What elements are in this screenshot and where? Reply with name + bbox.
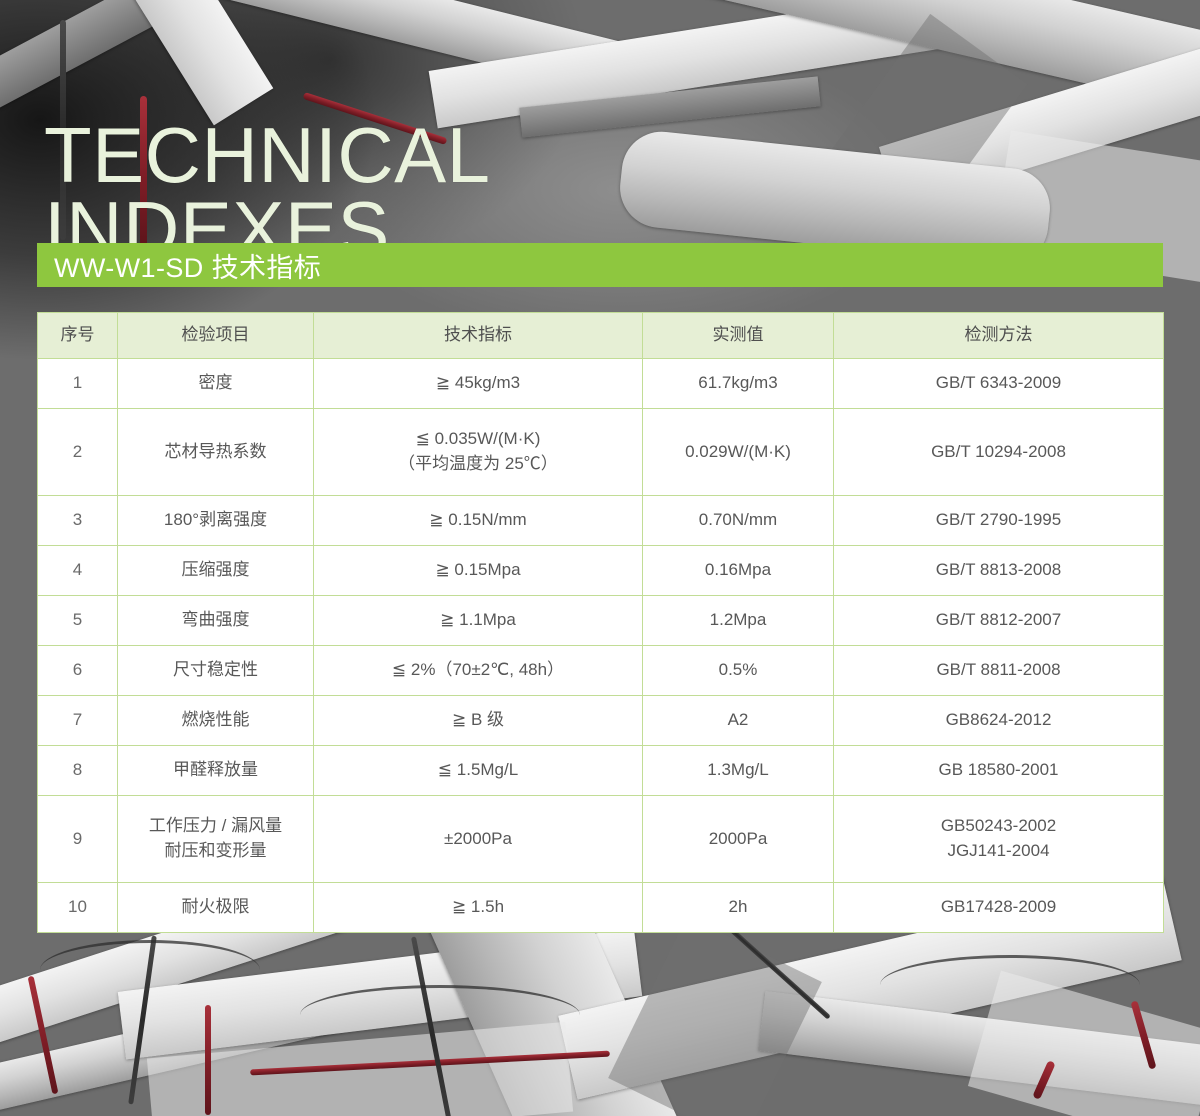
cell-test-method-line: GB50243-2002	[840, 814, 1157, 839]
cell-inspection-item: 工作压力 / 漏风量耐压和变形量	[118, 796, 314, 883]
cell-no-line: 2	[44, 440, 111, 465]
cell-measured-value: 61.7kg/m3	[643, 359, 834, 409]
cell-no: 3	[38, 496, 118, 546]
cell-inspection-item-line: 工作压力 / 漏风量	[124, 814, 307, 839]
cell-measured-value-line: 1.2Mpa	[649, 608, 827, 633]
cell-measured-value-line: 0.029W/(M·K)	[649, 440, 827, 465]
cell-no: 1	[38, 359, 118, 409]
cell-test-method: GB 18580-2001	[834, 746, 1164, 796]
table-row: 7燃烧性能≧ B 级A2GB8624-2012	[38, 696, 1164, 746]
table-row: 2芯材导热系数≦ 0.035W/(M·K)（平均温度为 25℃）0.029W/(…	[38, 409, 1164, 496]
cell-test-method: GB50243-2002JGJ141-2004	[834, 796, 1164, 883]
cell-inspection-item-line: 180°剥离强度	[124, 508, 307, 533]
hanging-cable	[40, 940, 260, 1000]
cell-inspection-item-line: 弯曲强度	[124, 608, 307, 633]
cell-technical-index: ≦ 0.035W/(M·K)（平均温度为 25℃）	[314, 409, 643, 496]
table-row: 4压缩强度≧ 0.15Mpa0.16MpaGB/T 8813-2008	[38, 546, 1164, 596]
cell-no-line: 5	[44, 608, 111, 633]
cell-measured-value-line: 0.5%	[649, 658, 827, 683]
cell-measured-value: 0.70N/mm	[643, 496, 834, 546]
cell-test-method: GB/T 8813-2008	[834, 546, 1164, 596]
cell-test-method: GB/T 10294-2008	[834, 409, 1164, 496]
cell-inspection-item: 弯曲强度	[118, 596, 314, 646]
cell-no-line: 9	[44, 827, 111, 852]
cell-technical-index-line: （平均温度为 25℃）	[320, 452, 636, 477]
cell-measured-value-line: 0.16Mpa	[649, 558, 827, 583]
cell-measured-value: A2	[643, 696, 834, 746]
cell-test-method-line: GB/T 2790-1995	[840, 508, 1157, 533]
column-header-technical-index: 技术指标	[314, 313, 643, 359]
table-header: 序号 检验项目 技术指标 实测值 检测方法	[38, 313, 1164, 359]
cell-test-method-line: GB/T 6343-2009	[840, 371, 1157, 396]
cell-measured-value: 1.3Mg/L	[643, 746, 834, 796]
table-row: 1密度≧ 45kg/m361.7kg/m3GB/T 6343-2009	[38, 359, 1164, 409]
table-header-row: 序号 检验项目 技术指标 实测值 检测方法	[38, 313, 1164, 359]
cell-measured-value: 2h	[643, 883, 834, 933]
cell-no: 6	[38, 646, 118, 696]
cell-inspection-item: 芯材导热系数	[118, 409, 314, 496]
table-row: 5弯曲强度≧ 1.1Mpa1.2MpaGB/T 8812-2007	[38, 596, 1164, 646]
cell-test-method-line: GB/T 8811-2008	[840, 658, 1157, 683]
cell-inspection-item: 耐火极限	[118, 883, 314, 933]
table-row: 8甲醛释放量≦ 1.5Mg/L1.3Mg/LGB 18580-2001	[38, 746, 1164, 796]
cell-measured-value: 2000Pa	[643, 796, 834, 883]
technical-indexes-page: TECHNICAL INDEXES WW-W1-SD 技术指标 序号 检验项目 …	[0, 0, 1200, 1116]
cell-test-method-line: GB/T 8812-2007	[840, 608, 1157, 633]
hanging-cable	[300, 985, 580, 1045]
cell-technical-index: ≦ 1.5Mg/L	[314, 746, 643, 796]
cell-measured-value-line: 2000Pa	[649, 827, 827, 852]
cell-inspection-item-line: 压缩强度	[124, 558, 307, 583]
table-body: 1密度≧ 45kg/m361.7kg/m3GB/T 6343-20092芯材导热…	[38, 359, 1164, 933]
cell-no: 8	[38, 746, 118, 796]
cell-technical-index: ≧ 45kg/m3	[314, 359, 643, 409]
cell-inspection-item: 甲醛释放量	[118, 746, 314, 796]
cell-inspection-item-line: 耐火极限	[124, 895, 307, 920]
cell-measured-value: 0.5%	[643, 646, 834, 696]
red-pipe	[205, 1005, 211, 1115]
cell-test-method-line: GB/T 10294-2008	[840, 440, 1157, 465]
cell-measured-value: 1.2Mpa	[643, 596, 834, 646]
cell-technical-index-line: ≧ B 级	[320, 708, 636, 733]
cell-inspection-item: 压缩强度	[118, 546, 314, 596]
table-row: 3180°剥离强度≧ 0.15N/mm0.70N/mmGB/T 2790-199…	[38, 496, 1164, 546]
cell-test-method: GB/T 8812-2007	[834, 596, 1164, 646]
technical-indexes-table: 序号 检验项目 技术指标 实测值 检测方法 1密度≧ 45kg/m361.7kg…	[37, 312, 1164, 933]
cell-technical-index-line: ≧ 0.15Mpa	[320, 558, 636, 583]
column-header-test-method: 检测方法	[834, 313, 1164, 359]
cell-no-line: 3	[44, 508, 111, 533]
cell-inspection-item: 燃烧性能	[118, 696, 314, 746]
cell-technical-index: ≧ 0.15Mpa	[314, 546, 643, 596]
table-row: 6尺寸稳定性≦ 2%（70±2℃, 48h）0.5%GB/T 8811-2008	[38, 646, 1164, 696]
hanging-cable	[880, 955, 1140, 1015]
section-title-text: WW-W1-SD 技术指标	[37, 246, 321, 285]
cell-test-method-line: JGJ141-2004	[840, 839, 1157, 864]
cell-technical-index-line: ≧ 1.1Mpa	[320, 608, 636, 633]
column-header-no: 序号	[38, 313, 118, 359]
cell-technical-index-line: ≦ 1.5Mg/L	[320, 758, 636, 783]
cell-technical-index: ≧ 0.15N/mm	[314, 496, 643, 546]
cell-measured-value-line: A2	[649, 708, 827, 733]
cell-technical-index-line: ≦ 2%（70±2℃, 48h）	[320, 658, 636, 683]
cell-technical-index-line: ≧ 1.5h	[320, 895, 636, 920]
cell-inspection-item: 密度	[118, 359, 314, 409]
cell-technical-index: ≧ 1.1Mpa	[314, 596, 643, 646]
cell-no: 7	[38, 696, 118, 746]
cell-no: 5	[38, 596, 118, 646]
section-title-bar: WW-W1-SD 技术指标	[37, 243, 1163, 287]
cell-test-method: GB17428-2009	[834, 883, 1164, 933]
cell-no-line: 10	[44, 895, 111, 920]
cell-measured-value: 0.029W/(M·K)	[643, 409, 834, 496]
table-row: 10耐火极限≧ 1.5h2hGB17428-2009	[38, 883, 1164, 933]
cell-test-method: GB/T 6343-2009	[834, 359, 1164, 409]
cell-test-method: GB/T 8811-2008	[834, 646, 1164, 696]
cell-no-line: 4	[44, 558, 111, 583]
cell-test-method-line: GB17428-2009	[840, 895, 1157, 920]
cell-test-method-line: GB8624-2012	[840, 708, 1157, 733]
cell-no-line: 6	[44, 658, 111, 683]
cell-inspection-item: 180°剥离强度	[118, 496, 314, 546]
cell-inspection-item-line: 耐压和变形量	[124, 839, 307, 864]
cell-measured-value-line: 1.3Mg/L	[649, 758, 827, 783]
cell-measured-value: 0.16Mpa	[643, 546, 834, 596]
cell-no: 4	[38, 546, 118, 596]
cell-test-method: GB/T 2790-1995	[834, 496, 1164, 546]
table-row: 9工作压力 / 漏风量耐压和变形量±2000Pa2000PaGB50243-20…	[38, 796, 1164, 883]
cell-technical-index-line: ±2000Pa	[320, 827, 636, 852]
cell-inspection-item: 尺寸稳定性	[118, 646, 314, 696]
cell-inspection-item-line: 芯材导热系数	[124, 440, 307, 465]
cell-inspection-item-line: 燃烧性能	[124, 708, 307, 733]
cell-measured-value-line: 61.7kg/m3	[649, 371, 827, 396]
cell-inspection-item-line: 甲醛释放量	[124, 758, 307, 783]
cell-no: 10	[38, 883, 118, 933]
cell-no-line: 1	[44, 371, 111, 396]
cell-no-line: 8	[44, 758, 111, 783]
cell-no: 9	[38, 796, 118, 883]
cell-technical-index: ≧ 1.5h	[314, 883, 643, 933]
cell-inspection-item-line: 密度	[124, 371, 307, 396]
cell-technical-index-line: ≦ 0.035W/(M·K)	[320, 427, 636, 452]
cell-test-method: GB8624-2012	[834, 696, 1164, 746]
column-header-measured-value: 实测值	[643, 313, 834, 359]
cell-test-method-line: GB 18580-2001	[840, 758, 1157, 783]
cell-test-method-line: GB/T 8813-2008	[840, 558, 1157, 583]
cell-no: 2	[38, 409, 118, 496]
panel-slab	[608, 916, 822, 1116]
cell-technical-index: ≧ B 级	[314, 696, 643, 746]
cell-technical-index: ≦ 2%（70±2℃, 48h）	[314, 646, 643, 696]
column-header-inspection-item: 检验项目	[118, 313, 314, 359]
cell-technical-index: ±2000Pa	[314, 796, 643, 883]
cell-measured-value-line: 0.70N/mm	[649, 508, 827, 533]
cell-technical-index-line: ≧ 0.15N/mm	[320, 508, 636, 533]
cell-inspection-item-line: 尺寸稳定性	[124, 658, 307, 683]
cell-no-line: 7	[44, 708, 111, 733]
cell-technical-index-line: ≧ 45kg/m3	[320, 371, 636, 396]
page-title: TECHNICAL INDEXES	[44, 44, 491, 340]
cell-measured-value-line: 2h	[649, 895, 827, 920]
